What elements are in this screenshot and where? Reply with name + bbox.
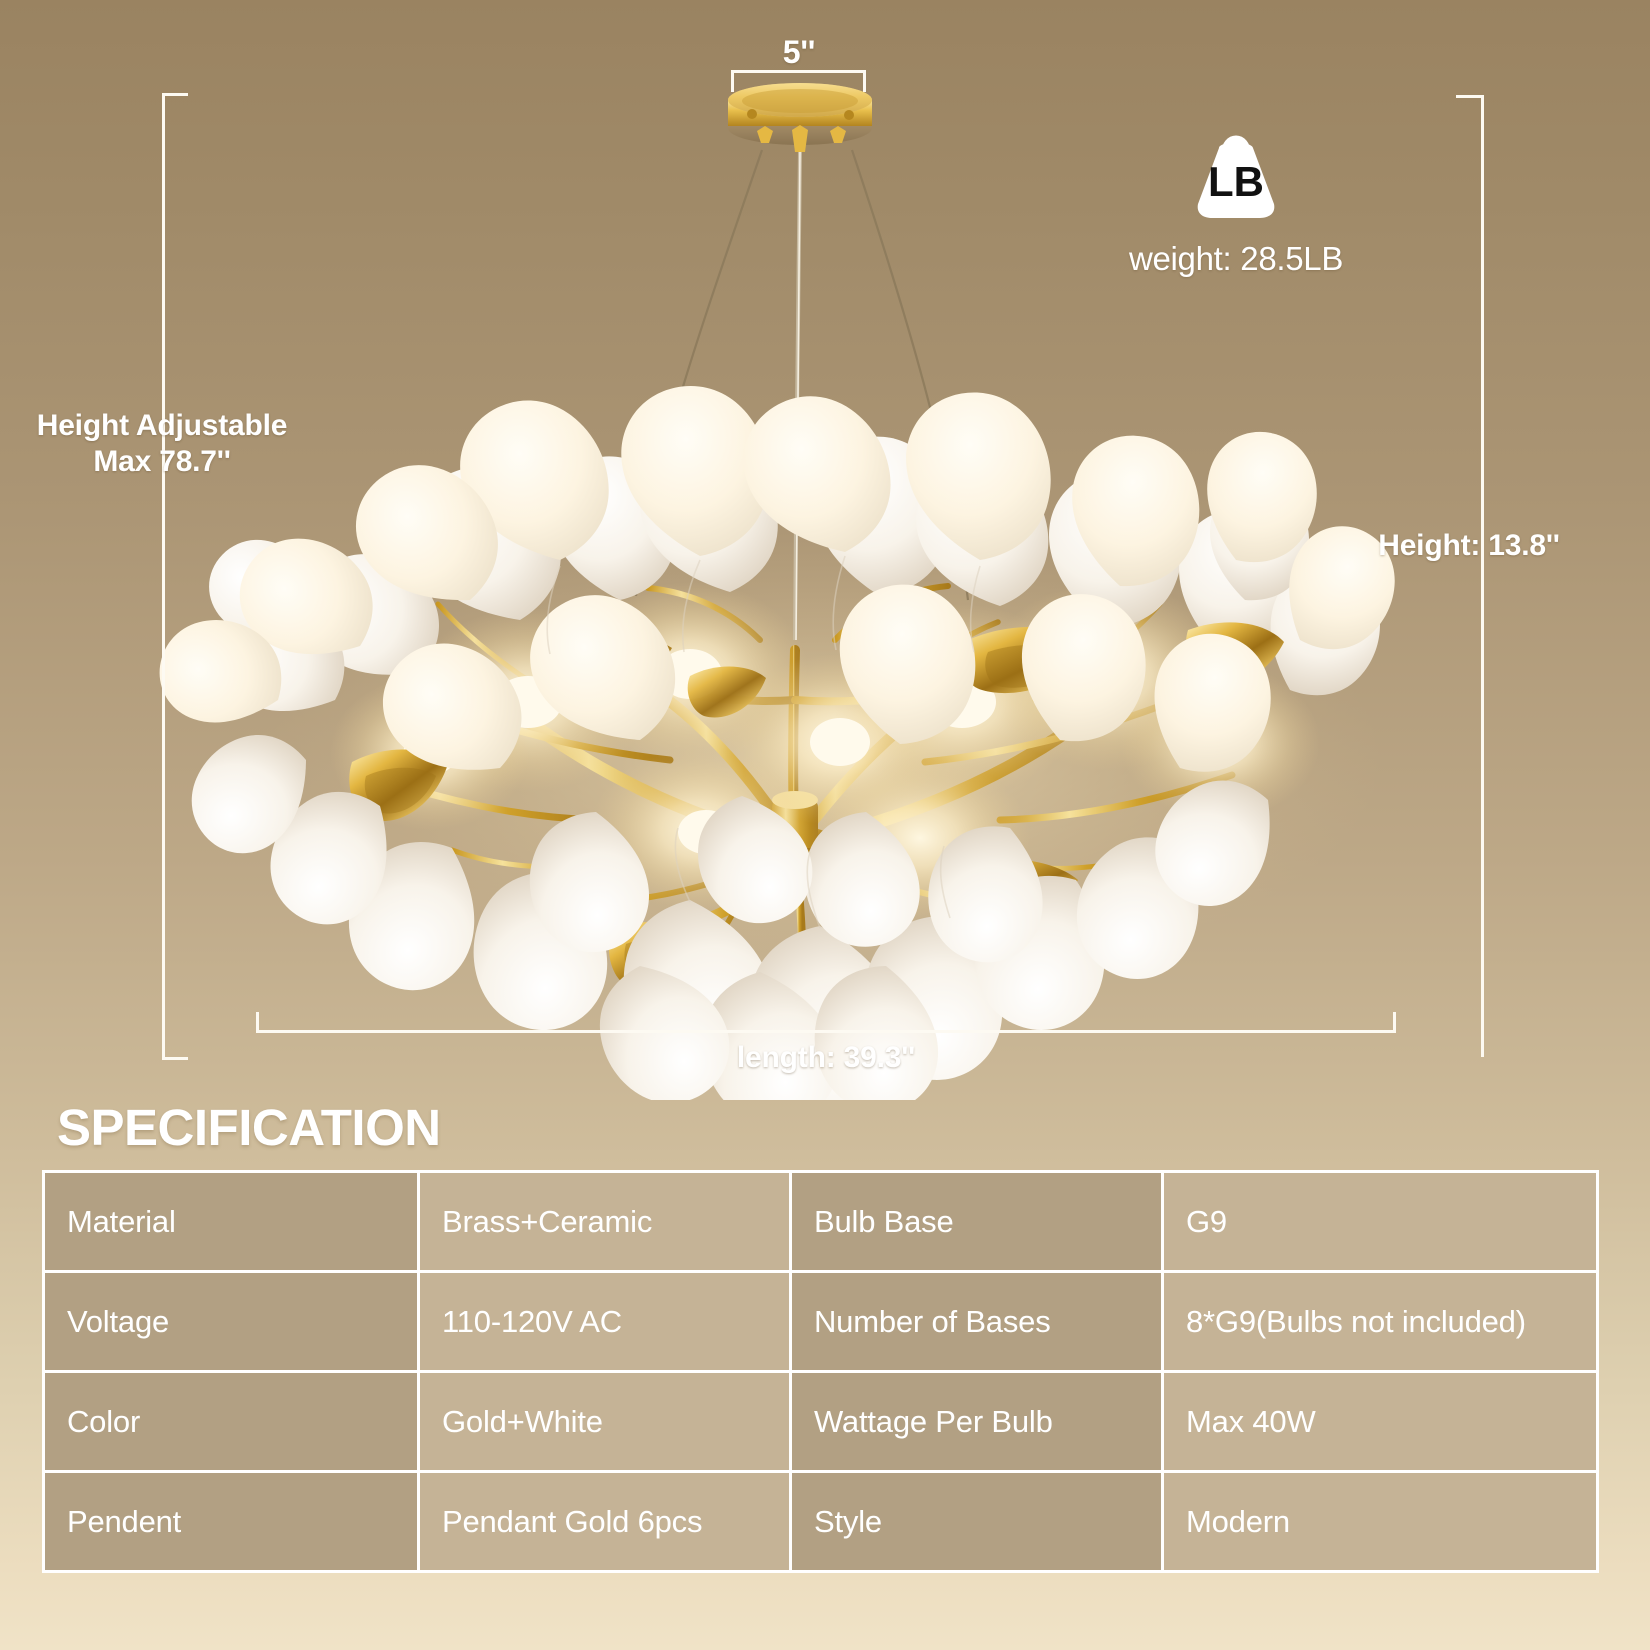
spec-value-number-of-bases: 8*G9(Bulbs not included) xyxy=(1163,1272,1598,1372)
spec-key-color: Color xyxy=(44,1372,419,1472)
specification-section: SPECIFICATION Material Brass+Ceramic Bul… xyxy=(0,1088,1650,1650)
spec-key-voltage: Voltage xyxy=(44,1272,419,1372)
height-adjustable-label-line1: Height Adjustable xyxy=(12,408,312,443)
spec-key-style: Style xyxy=(791,1472,1163,1572)
spec-key-wattage-per-bulb: Wattage Per Bulb xyxy=(791,1372,1163,1472)
table-row: Color Gold+White Wattage Per Bulb Max 40… xyxy=(44,1372,1598,1472)
canopy-width-tick-right xyxy=(863,70,866,92)
table-row: Voltage 110-120V AC Number of Bases 8*G9… xyxy=(44,1272,1598,1372)
spec-value-bulb-base: G9 xyxy=(1163,1172,1598,1272)
weight-bag-icon: LB xyxy=(1182,118,1290,226)
weight-icon-text: LB xyxy=(1208,158,1264,205)
length-label: length: 39.3'' xyxy=(606,1040,1046,1075)
height-adjustable-cap-top xyxy=(162,93,188,96)
height-adjustable-line xyxy=(162,93,165,1060)
height-adjustable-label-line2: Max 78.7'' xyxy=(12,444,312,479)
spec-key-material: Material xyxy=(44,1172,419,1272)
fixture-height-cap-top xyxy=(1456,95,1484,98)
spec-value-wattage-per-bulb: Max 40W xyxy=(1163,1372,1598,1472)
fixture-height-label: Height: 13.8'' xyxy=(1304,528,1634,563)
length-tick-left xyxy=(256,1012,259,1032)
weight-label: weight: 28.5LB xyxy=(1096,240,1376,278)
length-bracket-bar xyxy=(256,1030,1396,1033)
spec-value-color: Gold+White xyxy=(419,1372,791,1472)
length-tick-right xyxy=(1393,1012,1396,1032)
spec-value-material: Brass+Ceramic xyxy=(419,1172,791,1272)
product-spec-page: 5'' Height Adjustable Max 78.7'' Height:… xyxy=(0,0,1650,1650)
spec-key-bulb-base: Bulb Base xyxy=(791,1172,1163,1272)
weight-badge: LB weight: 28.5LB xyxy=(1096,118,1376,278)
fixture-height-line xyxy=(1481,95,1484,1057)
table-row: Material Brass+Ceramic Bulb Base G9 xyxy=(44,1172,1598,1272)
canopy-width-tick-left xyxy=(731,70,734,92)
spec-value-voltage: 110-120V AC xyxy=(419,1272,791,1372)
spec-value-style: Modern xyxy=(1163,1472,1598,1572)
spec-value-pendent: Pendant Gold 6pcs xyxy=(419,1472,791,1572)
height-adjustable-cap-bottom xyxy=(162,1057,188,1060)
specification-title: SPECIFICATION xyxy=(57,1098,441,1157)
canopy-width-label: 5'' xyxy=(736,34,862,72)
specification-table: Material Brass+Ceramic Bulb Base G9 Volt… xyxy=(42,1170,1599,1573)
table-row: Pendent Pendant Gold 6pcs Style Modern xyxy=(44,1472,1598,1572)
spec-key-pendent: Pendent xyxy=(44,1472,419,1572)
spec-key-number-of-bases: Number of Bases xyxy=(791,1272,1163,1372)
